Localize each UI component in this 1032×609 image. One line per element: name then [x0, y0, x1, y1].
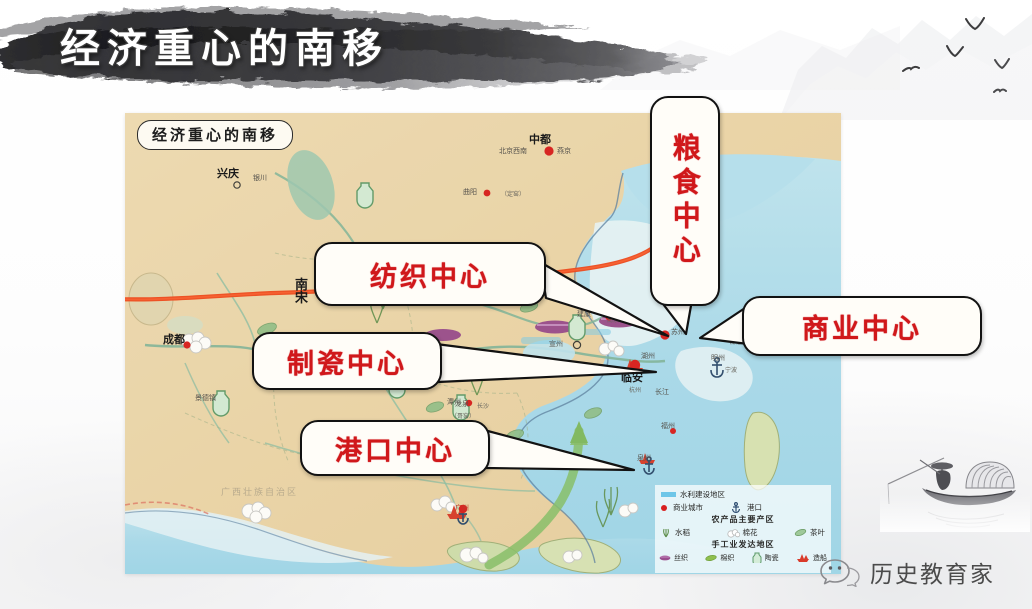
legend-item-rice: 水稻	[661, 527, 690, 538]
silk-icon	[659, 554, 671, 562]
map-title-box: 经济重心的南移	[137, 120, 293, 150]
callout-grain-label: 粮食中心	[670, 133, 699, 269]
legend-row-city-port: 商业城市 港口	[655, 501, 831, 514]
legend-item-cotton-weave: 棉织	[705, 553, 734, 563]
bird-icon	[946, 45, 964, 58]
legend-label-cotton-weave: 棉织	[720, 553, 734, 563]
callout-textile-center[interactable]: 纺织中心	[314, 242, 546, 306]
bird-icon	[902, 65, 920, 77]
water-swatch-icon	[661, 492, 676, 497]
cotton-icon	[727, 528, 740, 538]
legend-heading-handicraft: 手工业发达地区	[655, 539, 831, 551]
slide-canvas: 经济重心的南移	[0, 0, 1032, 609]
porcelain-icon	[752, 552, 762, 563]
legend-label-port: 港口	[747, 502, 762, 513]
brand-name: 历史教育家	[870, 555, 995, 589]
legend-item-porcelain: 陶瓷	[752, 552, 779, 563]
wechat-brand[interactable]: 历史教育家	[820, 552, 995, 592]
legend-label-tea: 茶叶	[810, 527, 825, 538]
cotton-weave-icon	[705, 554, 717, 562]
legend-item-silk: 丝织	[659, 553, 688, 563]
legend-heading-agriculture: 农产品主要产区	[655, 514, 831, 526]
mountain-wash-right	[780, 0, 1032, 120]
legend-row-agriculture: 水稻 棉花 茶叶	[655, 526, 831, 539]
legend-label-rice: 水稻	[675, 527, 690, 538]
callout-port-label: 港口中心	[335, 429, 455, 468]
legend-label-porcelain: 陶瓷	[765, 553, 779, 563]
callout-commerce-center[interactable]: 商业中心	[742, 296, 982, 356]
callout-commerce-label: 商业中心	[802, 307, 922, 346]
legend-item-tea: 茶叶	[794, 527, 825, 538]
callout-textile-label: 纺织中心	[370, 255, 490, 294]
rice-icon	[661, 527, 672, 538]
historical-map[interactable]: 经济重心的南移 广西壮族自治区 兴庆 银川 中都 北京西南 燕京 曲阳 （定窑）…	[125, 113, 841, 574]
page-title: 经济重心的南移	[60, 16, 389, 74]
commercial-city-dot-icon	[661, 505, 667, 511]
wechat-icon	[820, 557, 860, 587]
bird-icon	[994, 58, 1010, 70]
legend-label-silk: 丝织	[674, 553, 688, 563]
legend-row-water: 水利建设地区	[655, 488, 831, 501]
callout-port-center[interactable]: 港口中心	[300, 420, 490, 476]
callout-porcelain-center[interactable]: 制瓷中心	[252, 332, 442, 390]
tea-icon	[794, 528, 807, 537]
fisherman-illustration	[880, 432, 1030, 532]
legend-label-commercial-city: 商业城市	[673, 502, 703, 513]
legend-label-water: 水利建设地区	[680, 489, 725, 500]
legend-label-cotton: 棉花	[743, 527, 758, 538]
legend-row-handicraft: 丝织 棉织 陶瓷	[655, 551, 831, 564]
map-legend: 水利建设地区 商业城市 港口 农产品主要产区	[655, 485, 831, 573]
callout-grain-center[interactable]: 粮食中心	[650, 96, 720, 306]
shipbuilding-icon	[796, 553, 810, 563]
bird-icon	[965, 17, 985, 31]
bird-icon	[993, 87, 1007, 97]
callout-porcelain-label: 制瓷中心	[287, 342, 407, 381]
legend-item-cotton: 棉花	[727, 527, 758, 538]
anchor-icon	[731, 502, 741, 513]
